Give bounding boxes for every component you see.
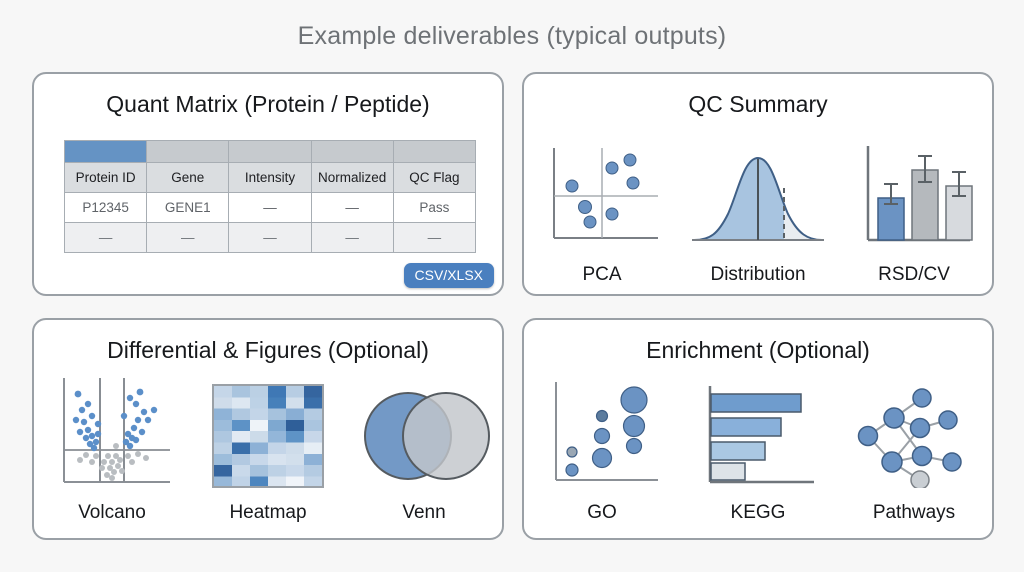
qc-figure-row: PCA Distribution (524, 132, 992, 286)
pathways-network (850, 376, 978, 488)
table-cell: — (311, 223, 393, 253)
card-differential: Differential & Figures (Optional) (32, 318, 504, 540)
table-cell: — (147, 223, 229, 253)
figure-caption: Heatmap (229, 502, 306, 524)
figure-caption: Venn (402, 502, 445, 524)
figure-go: GO (527, 376, 677, 524)
go-chart-svg (540, 378, 664, 488)
rsd-cv-plot (852, 138, 976, 250)
volcano-plot (50, 376, 174, 488)
enrichment-figure-row: GO KEGG (524, 376, 992, 524)
table-cell: P12345 (65, 193, 147, 223)
card-title-enrichment: Enrichment (Optional) (524, 337, 992, 364)
table-cell: — (229, 193, 311, 223)
card-title-differential: Differential & Figures (Optional) (34, 337, 502, 364)
column-header: Normalized (311, 163, 393, 193)
distribution-chart-svg (688, 142, 828, 250)
slide-canvas: Example deliverables (typical outputs) Q… (0, 0, 1024, 572)
figure-caption: KEGG (731, 502, 786, 524)
venn-chart-svg (354, 384, 494, 488)
distribution-plot (688, 132, 828, 250)
accent-cell (147, 141, 229, 163)
accent-cell (229, 141, 311, 163)
card-title-quant: Quant Matrix (Protein / Peptide) (34, 91, 502, 118)
card-qc-summary: QC Summary (522, 72, 994, 296)
card-title-qc: QC Summary (524, 91, 992, 118)
table-row: — — — — — (65, 223, 476, 253)
figure-caption: Pathways (873, 502, 955, 524)
table-cell: — (229, 223, 311, 253)
rsd-cv-chart-svg (852, 142, 976, 250)
accent-cell (311, 141, 393, 163)
quant-matrix-table: Protein ID Gene Intensity Normalized QC … (64, 140, 476, 253)
card-enrichment: Enrichment (Optional) (522, 318, 994, 540)
kegg-plot (696, 376, 820, 488)
figure-heatmap: Heatmap (193, 376, 343, 524)
accent-cell (393, 141, 475, 163)
page-title: Example deliverables (typical outputs) (0, 22, 1024, 51)
table-cell: GENE1 (147, 193, 229, 223)
column-header: Protein ID (65, 163, 147, 193)
figure-caption: Volcano (78, 502, 146, 524)
figure-caption: RSD/CV (878, 264, 950, 286)
figure-venn: Venn (349, 376, 499, 524)
pathways-chart-svg (850, 382, 978, 488)
figure-kegg: KEGG (683, 376, 833, 524)
venn-plot (354, 376, 494, 488)
column-header: Gene (147, 163, 229, 193)
figure-rsd-cv: RSD/CV (839, 138, 989, 286)
kegg-chart-svg (696, 384, 820, 488)
figure-distribution: Distribution (683, 132, 833, 286)
table-cell: — (311, 193, 393, 223)
column-header: Intensity (229, 163, 311, 193)
pca-plot (540, 138, 664, 250)
figure-pathways: Pathways (839, 376, 989, 524)
heatmap-chart-svg (212, 384, 324, 488)
figure-pca: PCA (527, 138, 677, 286)
pca-chart-svg (540, 142, 664, 250)
table-accent-row (65, 141, 476, 163)
table-row: P12345 GENE1 — — Pass (65, 193, 476, 223)
volcano-chart-svg (50, 376, 174, 488)
format-badge: CSV/XLSX (404, 263, 494, 288)
figure-volcano: Volcano (37, 376, 187, 524)
figure-caption: Distribution (710, 264, 805, 286)
card-quant-matrix: Quant Matrix (Protein / Peptide) Protein… (32, 72, 504, 296)
figure-caption: PCA (582, 264, 621, 286)
figure-caption: GO (587, 502, 617, 524)
go-plot (540, 376, 664, 488)
table-header-row: Protein ID Gene Intensity Normalized QC … (65, 163, 476, 193)
accent-cell-blue (65, 141, 147, 163)
table-cell: — (65, 223, 147, 253)
table-cell: Pass (393, 193, 475, 223)
column-header: QC Flag (393, 163, 475, 193)
differential-figure-row: Volcano (34, 376, 502, 524)
heatmap-plot (212, 376, 324, 488)
table-cell: — (393, 223, 475, 253)
